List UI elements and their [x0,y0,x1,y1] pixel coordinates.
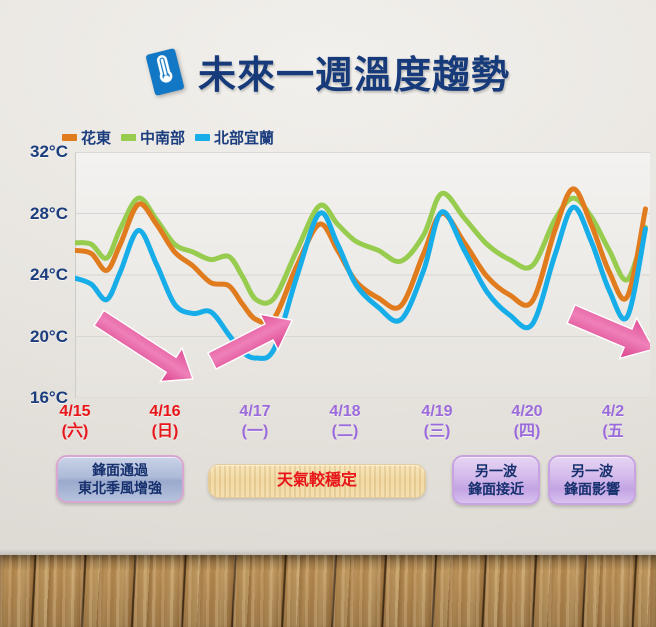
y-axis-tick-32: 32°C [10,142,68,162]
series-line-花東 [75,189,645,323]
x-tick-date: 4/18 [309,402,381,422]
legend-swatch-0 [62,134,77,141]
thermometer-icon [141,45,189,99]
x-tick-date: 4/20 [491,402,563,422]
legend-item-0: 花東 [62,127,111,148]
chart-plot [75,152,650,398]
y-axis-labels: 32°C28°C24°C20°C16°C [8,152,68,398]
y-axis-tick-20: 20°C [10,327,68,347]
page-title: 未來一週溫度趨勢 [198,44,510,99]
x-axis-tick-4: 4/19(三) [401,402,473,442]
x-axis-labels: 4/15(六)4/16(日)4/17(一)4/18(二)4/19(三)4/20(… [0,402,656,444]
x-tick-weekday: (四) [491,422,563,442]
y-axis-tick-24: 24°C [10,265,68,285]
x-tick-weekday: (三) [401,422,473,442]
x-tick-weekday: (二) [309,422,381,442]
x-axis-tick-2: 4/17(一) [219,402,291,442]
badge-line-0: 鋒面通過 [92,461,148,479]
legend-item-1: 中南部 [121,127,185,148]
badge-line-0: 另一波 [571,462,613,480]
x-tick-weekday: (六) [39,422,111,442]
badge-line-0: 天氣較穩定 [277,472,357,490]
badge-front-affecting[interactable]: 另一波鋒面影響 [548,455,636,505]
x-tick-date: 4/19 [401,402,473,422]
arrow-down-2-icon [562,294,650,370]
x-tick-weekday: (一) [219,422,291,442]
legend-label-0: 花東 [81,127,111,148]
temperature-chart [75,152,650,398]
x-tick-date: 4/16 [129,402,201,422]
legend-label-2: 北部宜蘭 [214,127,274,148]
chart-legend: 花東 中南部 北部宜蘭 [62,127,274,148]
y-axis-tick-28: 28°C [10,204,68,224]
badge-line-0: 另一波 [475,462,517,480]
badge-front-passing[interactable]: 鋒面通過東北季風增強 [56,455,184,503]
badge-front-approaching[interactable]: 另一波鋒面接近 [452,455,540,505]
x-tick-weekday: (五 [577,422,649,442]
chart-annotations [88,294,650,396]
badge-line-1: 鋒面接近 [468,480,524,498]
legend-swatch-2 [195,134,210,141]
badge-stable-weather[interactable]: 天氣較穩定 [208,464,426,498]
x-tick-weekday: (日) [129,422,201,442]
badge-line-1: 東北季風增強 [78,479,162,497]
x-axis-tick-5: 4/20(四) [491,402,563,442]
legend-item-2: 北部宜蘭 [195,127,274,148]
legend-label-1: 中南部 [140,127,185,148]
weather-forecast-graphic: 未來一週溫度趨勢 花東 中南部 北部宜蘭 32°C28°C24°C20°C16°… [0,0,656,627]
title-row: 未來一週溫度趨勢 [0,44,656,99]
arrow-down-1-icon [88,301,204,396]
x-axis-tick-1: 4/16(日) [129,402,201,442]
x-tick-date: 4/15 [39,402,111,422]
x-tick-date: 4/2 [577,402,649,422]
legend-swatch-1 [121,134,136,141]
chart-series [75,189,645,359]
x-axis-tick-0: 4/15(六) [39,402,111,442]
x-tick-date: 4/17 [219,402,291,422]
x-axis-tick-6: 4/2(五 [577,402,649,442]
wood-floor [0,555,656,627]
x-axis-tick-3: 4/18(二) [309,402,381,442]
badge-line-1: 鋒面影響 [564,480,620,498]
forecast-summary-badges: 鋒面通過東北季風增強天氣較穩定另一波鋒面接近另一波鋒面影響 [0,455,656,511]
